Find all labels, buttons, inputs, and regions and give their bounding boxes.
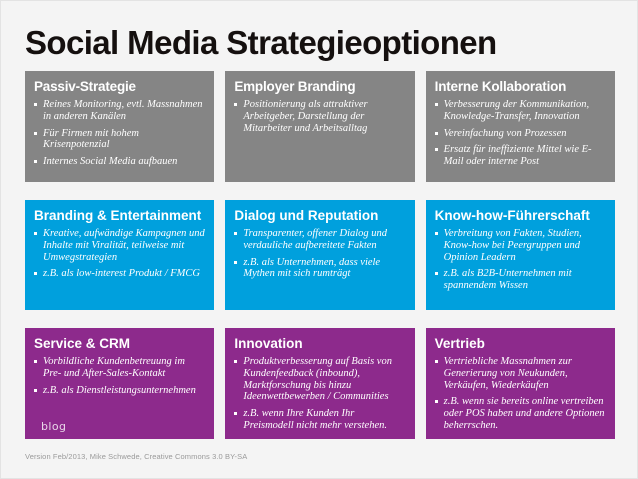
strategy-row-3: Service & CRM Vorbildliche Kundenbetreuu… <box>25 328 615 439</box>
list-item: Reines Monitoring, evtl. Massnahmen in a… <box>34 99 205 123</box>
list-item: z.B. als Dienstleistungsunternehmen <box>34 385 205 397</box>
slide-inner: Social Media Strategieoptionen Passiv-St… <box>9 9 629 470</box>
list-item: Vereinfachung von Prozessen <box>435 128 606 140</box>
list-item: Produktverbesserung auf Basis von Kunden… <box>234 356 405 403</box>
card-title: Interne Kollaboration <box>435 79 606 95</box>
list-item: Ersatz für ineffiziente Mittel wie E-Mai… <box>435 144 606 168</box>
list-item: Positionierung als attraktiver Arbeitgeb… <box>234 99 405 134</box>
card-employer-branding[interactable]: Employer Branding Positionierung als att… <box>225 71 414 182</box>
card-dialog-und-reputation[interactable]: Dialog und Reputation Transparenter, off… <box>225 200 414 310</box>
card-passiv-strategie[interactable]: Passiv-Strategie Reines Monitoring, evtl… <box>25 71 214 182</box>
card-bullet-list: Positionierung als attraktiver Arbeitgeb… <box>234 99 405 134</box>
card-bullet-list: Reines Monitoring, evtl. Massnahmen in a… <box>34 99 205 168</box>
list-item: Für Firmen mit hohem Krisenpotenzial <box>34 128 205 152</box>
card-title: Know-how-Führerschaft <box>435 208 606 224</box>
list-item: z.B. wenn sie bereits online vertreiben … <box>435 396 606 431</box>
list-item: Verbreitung von Fakten, Studien, Know-ho… <box>435 228 606 263</box>
card-title: Innovation <box>234 336 405 352</box>
strategy-grid: Passiv-Strategie Reines Monitoring, evtl… <box>25 71 615 457</box>
card-branding-entertainment[interactable]: Branding & Entertainment Kreative, aufwä… <box>25 200 214 310</box>
card-title: Vertrieb <box>435 336 606 352</box>
card-service-crm[interactable]: Service & CRM Vorbildliche Kundenbetreuu… <box>25 328 214 439</box>
card-bullet-list: Vertriebliche Massnahmen zur Generierung… <box>435 356 606 432</box>
list-item: Vorbildliche Kundenbetreuung im Pre- und… <box>34 356 205 380</box>
list-item: Internes Social Media aufbauen <box>34 156 205 168</box>
list-item: Verbesserung der Kommunikation, Knowledg… <box>435 99 606 123</box>
page-title: Social Media Strategieoptionen <box>25 24 497 62</box>
card-bullet-list: Verbesserung der Kommunikation, Knowledg… <box>435 99 606 168</box>
card-title: Dialog und Reputation <box>234 208 405 224</box>
list-item: z.B. wenn Ihre Kunden Ihr Preismodell ni… <box>234 408 405 432</box>
card-bullet-list: Transparenter, offener Dialog und verdau… <box>234 228 405 280</box>
strategy-row-2: Branding & Entertainment Kreative, aufwä… <box>25 200 615 310</box>
card-title: Passiv-Strategie <box>34 79 205 95</box>
card-bullet-list: Produktverbesserung auf Basis von Kunden… <box>234 356 405 432</box>
card-interne-kollaboration[interactable]: Interne Kollaboration Verbesserung der K… <box>426 71 615 182</box>
card-know-how-fuehrerschaft[interactable]: Know-how-Führerschaft Verbreitung von Fa… <box>426 200 615 310</box>
card-title: Branding & Entertainment <box>34 208 205 224</box>
strategy-row-1: Passiv-Strategie Reines Monitoring, evtl… <box>25 71 615 182</box>
list-item: z.B. als low-interest Produkt / FMCG <box>34 268 205 280</box>
card-title: Employer Branding <box>234 79 405 95</box>
list-item: z.B. als B2B-Unternehmen mit spannendem … <box>435 268 606 292</box>
card-vertrieb[interactable]: Vertrieb Vertriebliche Massnahmen zur Ge… <box>426 328 615 439</box>
card-bullet-list: Kreative, aufwändige Kampagnen und Inhal… <box>34 228 205 280</box>
card-title: Service & CRM <box>34 336 205 352</box>
list-item: Kreative, aufwändige Kampagnen und Inhal… <box>34 228 205 263</box>
card-innovation[interactable]: Innovation Produktverbesserung auf Basis… <box>225 328 414 439</box>
list-item: Transparenter, offener Dialog und verdau… <box>234 228 405 252</box>
card-bullet-list: Vorbildliche Kundenbetreuung im Pre- und… <box>34 356 205 396</box>
card-bullet-list: Verbreitung von Fakten, Studien, Know-ho… <box>435 228 606 292</box>
list-item: z.B. als Unternehmen, dass viele Mythen … <box>234 257 405 281</box>
list-item: Vertriebliche Massnahmen zur Generierung… <box>435 356 606 391</box>
blog-watermark: blog <box>41 420 66 433</box>
footer-credit: Version Feb/2013, Mike Schwede, Creative… <box>25 452 247 461</box>
slide-canvas: Social Media Strategieoptionen Passiv-St… <box>0 0 638 479</box>
